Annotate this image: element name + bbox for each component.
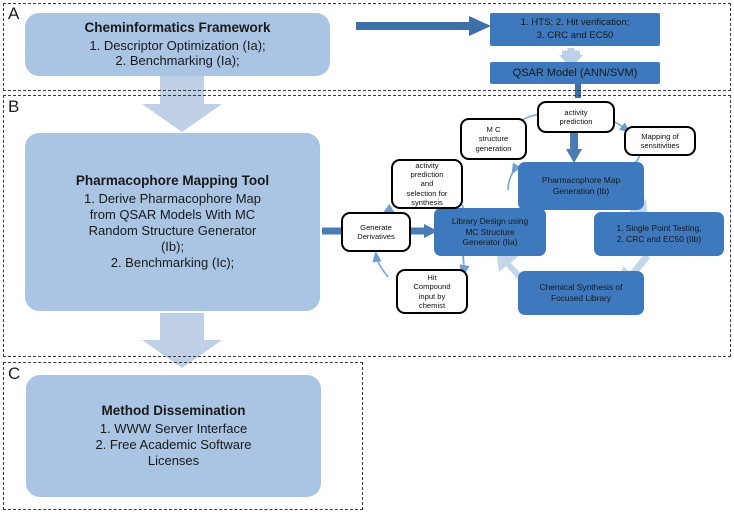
hit-line-4: chemist bbox=[419, 301, 445, 310]
act-sel-line-4: selection for bbox=[407, 189, 448, 198]
framework-line-2: 2. Benchmarking (Ia); bbox=[115, 53, 239, 69]
hit-line-3: input by bbox=[419, 292, 446, 301]
tool-line-1: 1. Derive Pharmacophore Map bbox=[84, 191, 261, 207]
tool-line-2: from QSAR Models With MC bbox=[90, 207, 255, 223]
framework-line-1: 1. Descriptor Optimization (Ia); bbox=[89, 38, 265, 54]
mapping-of-sensitivities-box: Mapping of sensitivities bbox=[624, 126, 696, 156]
activity-prediction-line-1: activity bbox=[564, 108, 587, 117]
method-dissemination-box: Method Dissemination 1. WWW Server Inter… bbox=[26, 375, 321, 497]
tool-line-4: (Ib); bbox=[161, 239, 184, 255]
dissemination-line-3: Licenses bbox=[148, 453, 199, 469]
act-sel-line-5: synthesis bbox=[411, 198, 443, 207]
activity-prediction-selection-box: activity prediction and selection for sy… bbox=[391, 159, 463, 209]
hts-line-1: 1. HTS; 2. Hit verification; bbox=[521, 17, 630, 29]
act-sel-line-1: activity bbox=[415, 161, 438, 170]
mapping-line-2: sensitivities bbox=[641, 141, 680, 150]
synthesis-line-1: Chemical Synthesis of bbox=[540, 282, 623, 293]
cheminformatics-framework-box: Cheminformatics Framework 1. Descriptor … bbox=[25, 13, 330, 76]
tool-title: Pharmacophore Mapping Tool bbox=[76, 173, 269, 190]
testing-line-1: 1. Single Point Testing, bbox=[616, 223, 701, 234]
mc-structure-generation-box: M C structure generation bbox=[460, 118, 527, 160]
hit-line-1: Hit bbox=[427, 273, 436, 282]
pharmacophore-mapping-tool-box: Pharmacophore Mapping Tool 1. Derive Pha… bbox=[25, 133, 320, 311]
generate-derivatives-box: Generate Derivatives bbox=[341, 212, 411, 252]
pharmacophore-map-generation-box: Pharmacophore Map Generation (Ib) bbox=[518, 162, 644, 210]
library-line-1: Library Design using bbox=[452, 216, 528, 227]
library-design-box: Library Design using MC Structure Genera… bbox=[434, 208, 546, 256]
mc-struct-line-1: M C bbox=[487, 125, 501, 134]
generate-line-1: Generate bbox=[360, 223, 392, 232]
qsar-label: QSAR Model (ANN/SVM) bbox=[513, 66, 638, 80]
mc-struct-line-2: structure bbox=[479, 134, 509, 143]
tool-line-5: 2. Benchmarking (Ic); bbox=[111, 255, 235, 271]
act-sel-line-2: prediction bbox=[411, 170, 444, 179]
chemical-synthesis-box: Chemical Synthesis of Focused Library bbox=[518, 271, 644, 315]
dissemination-line-1: 1. WWW Server Interface bbox=[100, 421, 247, 437]
mapping-line-1: Mapping of bbox=[641, 132, 679, 141]
hit-compound-input-box: Hit Compound input by chemist bbox=[396, 269, 468, 314]
synthesis-line-2: Focused Library bbox=[551, 293, 611, 304]
hit-line-2: Compound bbox=[413, 282, 450, 291]
panel-b-letter: B bbox=[8, 98, 19, 115]
hts-line-2: 3. CRC and EC50 bbox=[537, 30, 614, 42]
act-sel-line-3: and bbox=[421, 179, 434, 188]
activity-prediction-line-2: prediction bbox=[560, 117, 593, 126]
library-line-2: MC Structure bbox=[465, 227, 514, 238]
dissemination-line-2: 2. Free Academic Software bbox=[95, 437, 251, 453]
dissemination-title: Method Dissemination bbox=[101, 403, 245, 420]
activity-prediction-box: activity prediction bbox=[537, 101, 615, 133]
hts-box: 1. HTS; 2. Hit verification; 3. CRC and … bbox=[490, 13, 660, 46]
testing-line-2: 2. CRC and EC50 (IIb) bbox=[617, 234, 701, 245]
tool-line-3: Random Structure Generator bbox=[89, 223, 257, 239]
map-gen-line-2: Generation (Ib) bbox=[553, 186, 609, 197]
single-point-testing-box: 1. Single Point Testing, 2. CRC and EC50… bbox=[594, 212, 724, 256]
mc-struct-line-3: generation bbox=[476, 144, 512, 153]
library-line-3: Generator (IIa) bbox=[463, 237, 518, 248]
panel-c-letter: C bbox=[8, 365, 20, 382]
figure-canvas: A Cheminformatics Framework 1. Descripto… bbox=[0, 0, 734, 514]
panel-a-letter: A bbox=[8, 5, 19, 22]
map-gen-line-1: Pharmacophore Map bbox=[542, 175, 620, 186]
qsar-model-box: QSAR Model (ANN/SVM) bbox=[490, 62, 660, 84]
framework-title: Cheminformatics Framework bbox=[84, 20, 270, 37]
generate-line-2: Derivatives bbox=[357, 232, 395, 241]
